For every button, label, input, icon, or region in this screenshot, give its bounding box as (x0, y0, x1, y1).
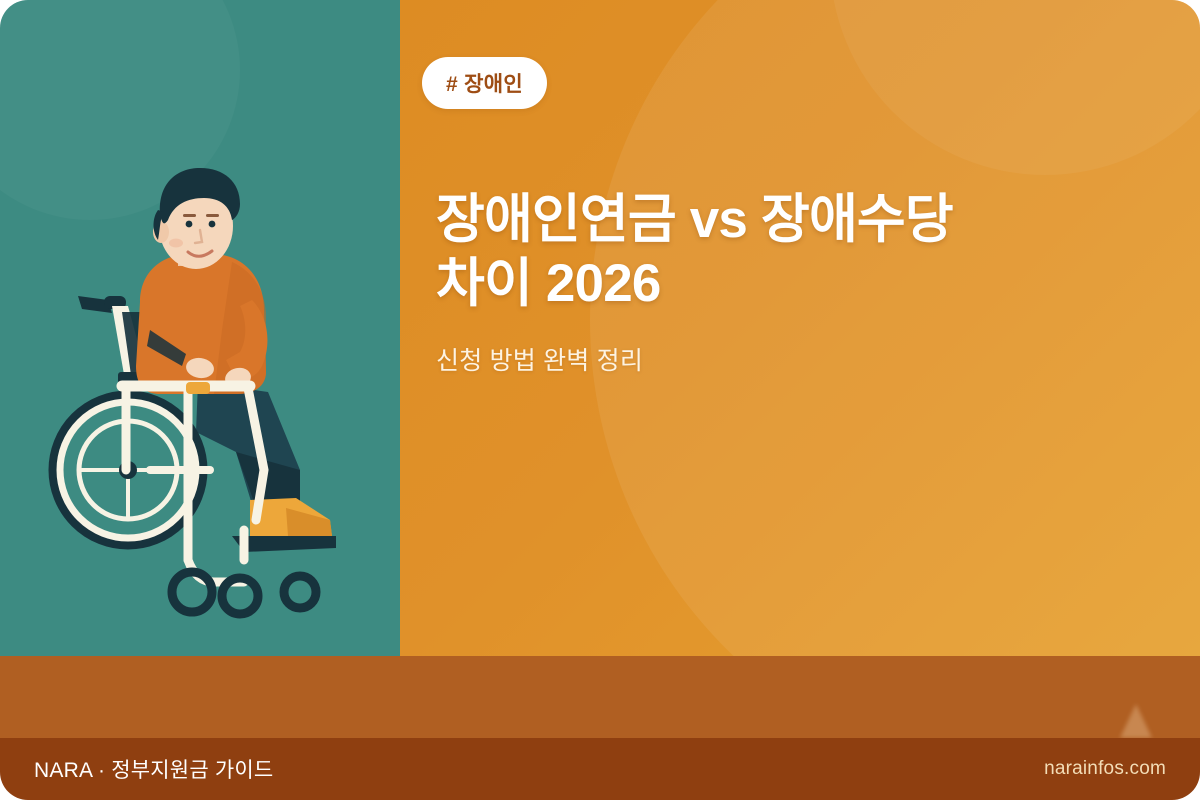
footer-site-url[interactable]: narainfos.com (1044, 758, 1166, 780)
page-title-line-1: 장애인연금 vs 장애수당 (436, 188, 1056, 252)
category-badge[interactable]: # 장애인 (422, 57, 547, 109)
page-subtitle: 신청 방법 완벽 정리 (436, 341, 1056, 377)
page-title-line-2: 차이 2026 (436, 252, 1056, 316)
footer-bar: NARA · 정부지원금 가이드 narainfos.com (0, 738, 1200, 800)
page-title: 장애인연금 vs 장애수당 차이 2026 (436, 188, 1056, 315)
footer-brand-label: NARA · 정부지원금 가이드 (34, 754, 273, 784)
person-in-wheelchair-icon (0, 0, 400, 656)
hero-text-block: 장애인연금 vs 장애수당 차이 2026 신청 방법 완벽 정리 (436, 188, 1056, 377)
illustration-panel (0, 0, 400, 656)
thumbnail-card: # 장애인 장애인연금 vs 장애수당 차이 2026 신청 방법 완벽 정리 … (0, 0, 1200, 800)
divider-band (0, 656, 1200, 738)
triangle-accent-icon (1120, 704, 1152, 738)
